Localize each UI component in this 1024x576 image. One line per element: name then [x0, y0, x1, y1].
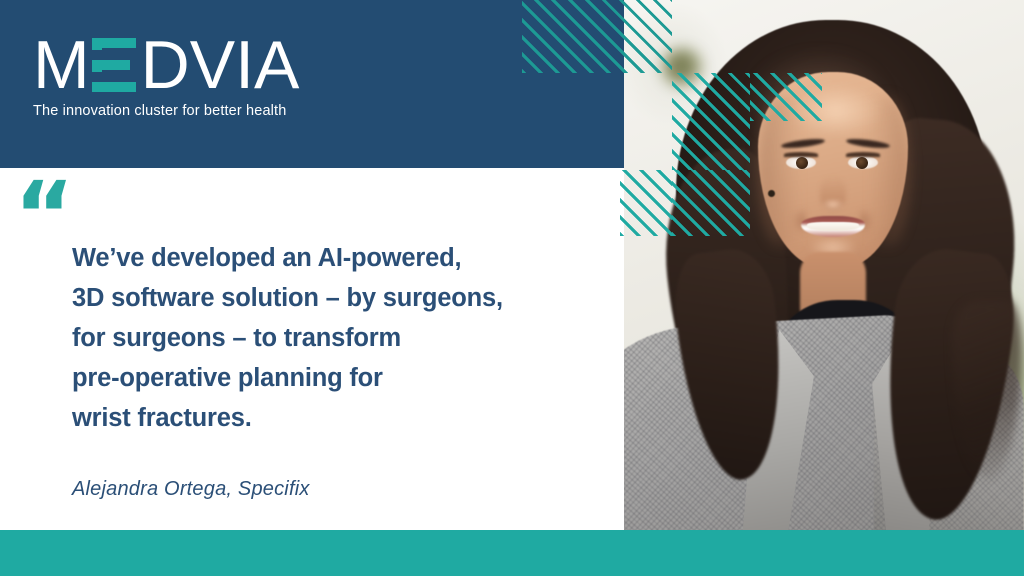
quote-line: 3D software solution – by surgeons, [72, 278, 592, 318]
portrait-earring [768, 190, 775, 197]
diagonal-stripe-block-right [750, 73, 822, 121]
quote-attribution: Alejandra Ortega, Specifix [72, 478, 310, 501]
quote-text: We’ve developed an AI-powered, 3D softwa… [72, 238, 592, 438]
logo-letter-e-icon [92, 38, 136, 92]
portrait-eyelid-right [846, 152, 880, 157]
diagonal-stripe-block-upper [672, 73, 750, 170]
logo-letters-dvia: DVIA [141, 38, 300, 92]
diagonal-stripe-block-top [522, 0, 672, 73]
logo-tagline: The innovation cluster for better health [33, 103, 299, 119]
portrait-iris-right [856, 157, 868, 169]
quote-line: pre-operative planning for [72, 358, 592, 398]
diagonal-stripe-block-middle [672, 170, 750, 236]
portrait-iris-left [796, 157, 808, 169]
logo-letter-m: M [33, 38, 90, 92]
quote-line: wrist fractures. [72, 398, 592, 438]
portrait-eyelid-left [784, 152, 818, 157]
portrait-nose-highlight [822, 200, 844, 211]
slide-canvas: M DVIA The innovation cluster for better… [0, 0, 1024, 576]
quote-line: We’ve developed an AI-powered, [72, 238, 592, 278]
quotation-mark-icon: “ [14, 186, 71, 246]
quote-line: for surgeons – to transform [72, 318, 592, 358]
portrait-teeth [807, 222, 859, 231]
diagonal-stripe-block-lower [620, 170, 672, 236]
footer-bar [0, 530, 1024, 576]
medvia-logo[interactable]: M DVIA The innovation cluster for better… [33, 36, 299, 119]
logo-wordmark: M DVIA [33, 36, 299, 92]
